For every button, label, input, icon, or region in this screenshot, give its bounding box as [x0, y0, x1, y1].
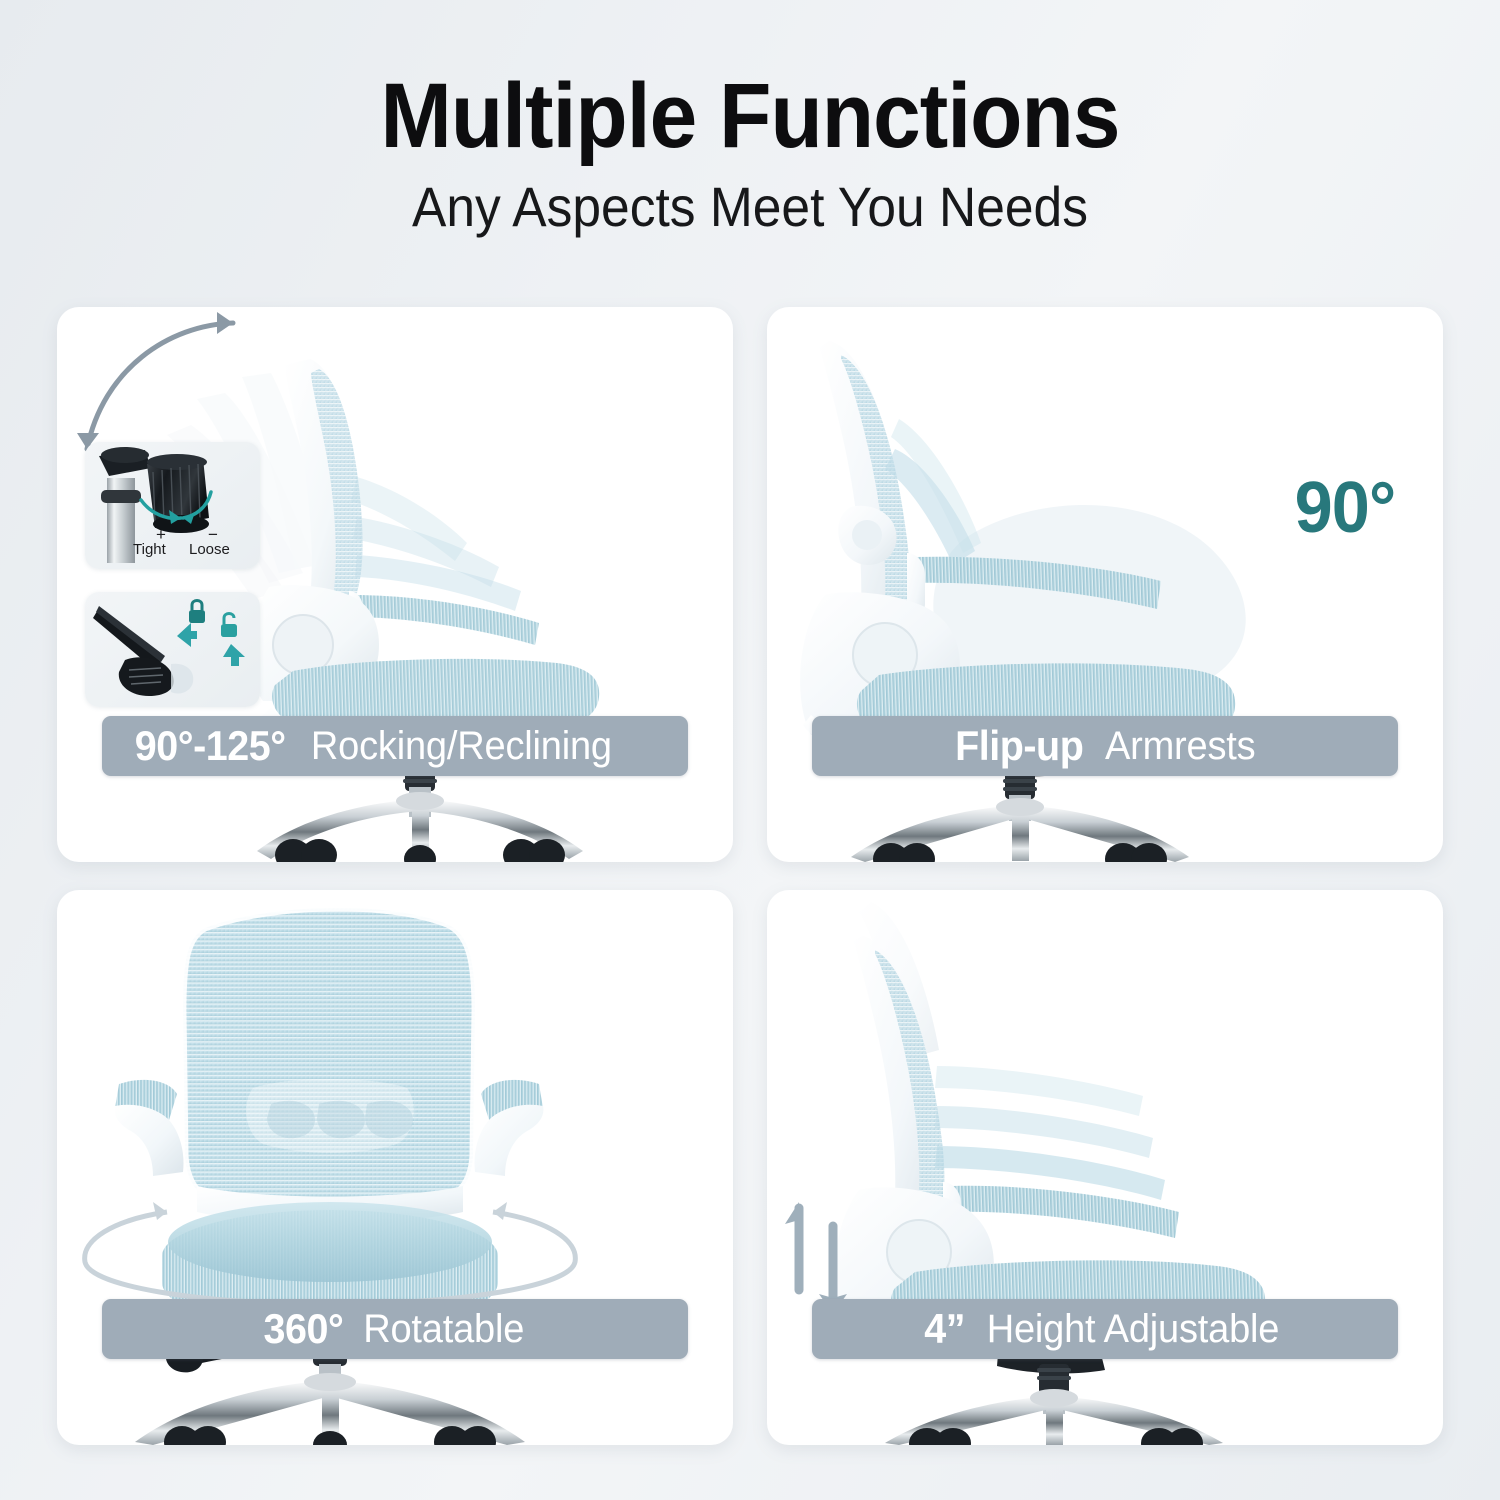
tilt-lever-icon	[85, 592, 260, 707]
caption-normal: Height Adjustable	[987, 1307, 1280, 1352]
inset-label-tight: Tight	[133, 541, 166, 558]
feature-grid: + − Tight Loose	[57, 307, 1443, 1467]
angle-badge-90: 90°	[1295, 467, 1396, 549]
caption-rocking-reclining: 90°-125° Rocking/Reclining	[102, 716, 688, 776]
chair-illustration-armrests	[767, 307, 1443, 862]
caption-rotatable: 360° Rotatable	[102, 1299, 688, 1359]
caption-normal: Armrests	[1104, 724, 1254, 769]
chair-illustration-rocking	[57, 307, 733, 862]
feature-card-height-adjustable[interactable]: 4” Height Adjustable	[767, 890, 1443, 1445]
chair-illustration-rotatable	[57, 890, 733, 1445]
arrow-down-icon	[223, 644, 245, 666]
feature-card-rocking-reclining[interactable]: + − Tight Loose	[57, 307, 733, 862]
arrow-head-right-icon	[217, 312, 233, 334]
inset-tilt-lever	[85, 592, 260, 707]
caption-height-adjustable: 4” Height Adjustable	[812, 1299, 1398, 1359]
lock-open-icon	[221, 614, 237, 638]
chair-height-svg	[767, 890, 1443, 1445]
caption-flip-up-armrests: Flip-up Armrests	[812, 716, 1398, 776]
tension-knob-icon: + −	[85, 442, 260, 569]
inset-label-loose: Loose	[189, 541, 230, 558]
chair-armrest-svg	[767, 307, 1443, 862]
chair-recline-svg	[57, 307, 733, 862]
chair-illustration-height	[767, 890, 1443, 1445]
up-down-arrow-icon	[799, 1208, 833, 1308]
lock-closed-icon	[189, 601, 205, 624]
caption-strong: Flip-up	[955, 722, 1083, 770]
chair-rear-svg	[57, 890, 733, 1445]
caption-strong: 4”	[924, 1305, 965, 1353]
page-header: Multiple Functions Any Aspects Meet You …	[0, 0, 1500, 300]
page-title: Multiple Functions	[53, 68, 1448, 165]
feature-card-rotatable[interactable]: 360° Rotatable	[57, 890, 733, 1445]
recline-arc-arrow	[87, 323, 233, 449]
caption-strong: 360°	[264, 1305, 344, 1353]
arrow-up-left-icon	[177, 623, 197, 647]
inset-tension-knob: + − Tight Loose	[85, 442, 260, 569]
caption-strong: 90°-125°	[135, 722, 286, 770]
feature-card-flip-up-armrests[interactable]: 90° Flip-up Armrests	[767, 307, 1443, 862]
page-subtitle: Any Aspects Meet You Needs	[60, 178, 1440, 237]
caption-normal: Rocking/Reclining	[311, 724, 612, 769]
caption-normal: Rotatable	[363, 1307, 524, 1352]
